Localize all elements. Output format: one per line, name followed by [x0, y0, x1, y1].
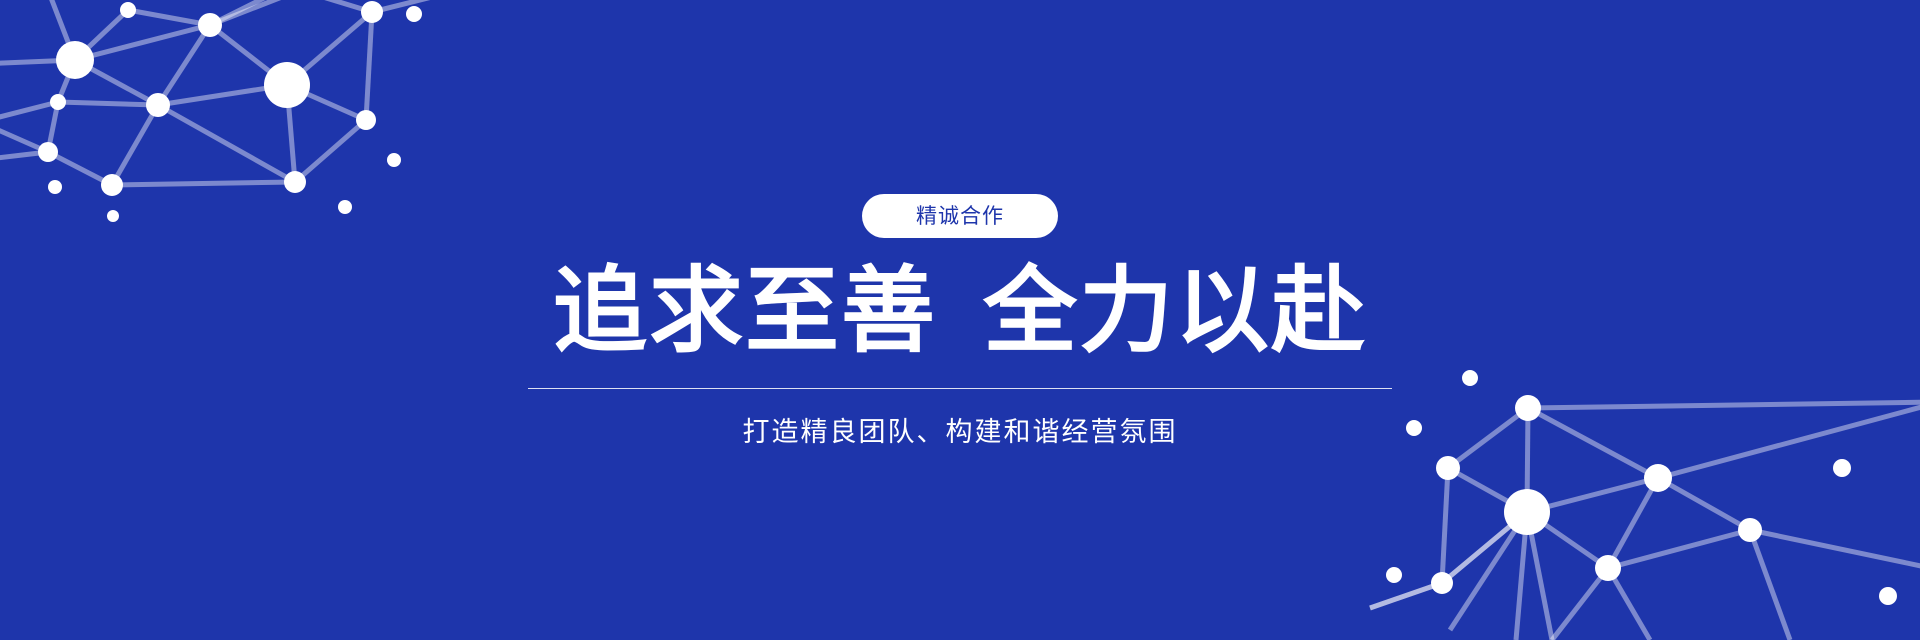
page-title: 追求至善 全力以赴 — [553, 260, 1367, 362]
banner-content: 精诚合作 追求至善 全力以赴 打造精良团队、构建和谐经营氛围 — [0, 0, 1920, 640]
tagline-badge: 精诚合作 — [862, 194, 1058, 238]
page-subtitle: 打造精良团队、构建和谐经营氛围 — [743, 419, 1178, 446]
promo-banner: 精诚合作 追求至善 全力以赴 打造精良团队、构建和谐经营氛围 — [0, 0, 1920, 640]
title-part-two: 全力以赴 — [983, 260, 1367, 362]
title-divider — [528, 388, 1392, 389]
title-part-one: 追求至善 — [553, 260, 937, 362]
